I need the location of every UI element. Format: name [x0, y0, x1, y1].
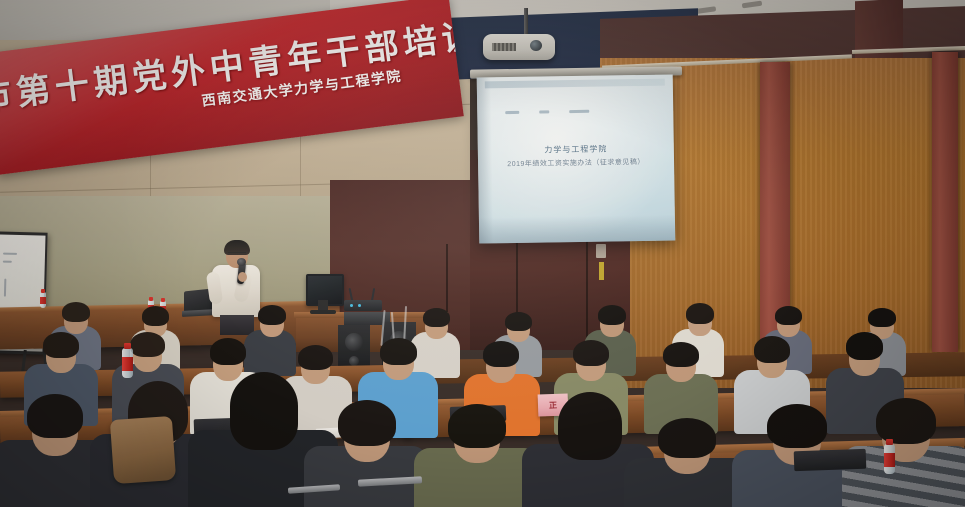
screen-shading: [479, 214, 675, 243]
name-card-text: 正: [549, 399, 557, 410]
projection-screen: 力学与工程学院 2019年绩效工资实施办法（征求意见稿）: [477, 74, 676, 243]
presenter-legs: [220, 315, 254, 335]
slide-header-mark: [539, 110, 549, 113]
wall-sign: [599, 262, 604, 280]
backpack-icon: [110, 416, 176, 484]
wall-seam: [586, 236, 588, 350]
microphone-head: [237, 258, 246, 266]
wall-switch-plate[interactable]: [596, 244, 606, 258]
projector-lens-icon: [530, 40, 542, 51]
loudspeaker-icon: [338, 325, 370, 371]
projector-vent: [492, 43, 516, 51]
water-bottle-icon: [884, 444, 895, 474]
slide-header-mark: [505, 111, 519, 114]
slide-header-mark: [569, 110, 589, 113]
conference-room-photo: 市第十期党外中青年干部培训班 西南交通大学力学与工程学院 力学与工程学院 201…: [0, 0, 965, 507]
monitor-base: [310, 310, 336, 314]
projector-mount-pole: [524, 8, 528, 36]
glasses-icon: [228, 252, 246, 257]
presenter-hand: [238, 272, 247, 282]
pillar-right-b: [932, 52, 958, 352]
water-bottle-icon: [40, 292, 46, 308]
folder: [794, 449, 867, 472]
status-led: [358, 304, 361, 307]
water-bottle-icon: [122, 348, 133, 378]
status-led: [350, 304, 353, 307]
